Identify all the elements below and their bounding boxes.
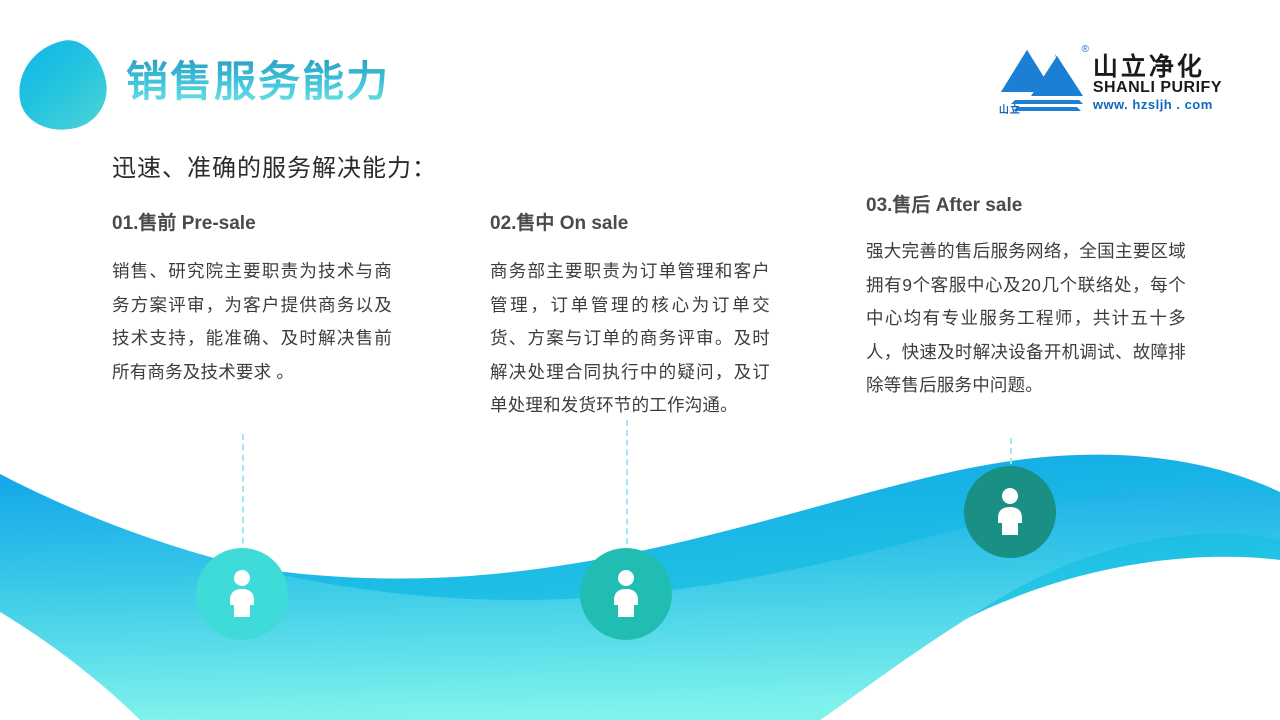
slide-root: 销售服务能力 ® 山立 山立净化 SHANLI PURIFY www. hzsl… (0, 0, 1280, 720)
column-heading: 02.售中 On sale (490, 208, 770, 235)
mountain-logo-icon: ® 山立 (997, 44, 1085, 118)
connector-line-on-sale (626, 420, 628, 554)
wave-left-cutout (0, 612, 140, 720)
section-subtitle: 迅速、准确的服务解决能力： (112, 148, 437, 183)
node-marker-on-sale[interactable] (580, 548, 672, 640)
logo-website-url: www. hzsljh . com (1093, 98, 1222, 112)
column-heading: 01.售前 Pre-sale (112, 208, 392, 235)
logo-mark-label: 山立 (999, 101, 1021, 116)
content-column-on-sale: 02.售中 On sale 商务部主要职责为订单管理和客户管理，订单管理的核心为… (490, 208, 770, 423)
decorative-blob-shape (10, 34, 114, 138)
registered-trademark-icon: ® (1081, 44, 1088, 55)
connector-line-pre-sale (242, 434, 244, 554)
content-column-after-sale: 03.售后 After sale 强大完善的售后服务网络，全国主要区域拥有9个客… (866, 190, 1186, 403)
person-icon (225, 569, 259, 619)
column-body-text: 商务部主要职责为订单管理和客户管理，订单管理的核心为订单交货、方案与订单的商务评… (490, 255, 770, 423)
column-body-text: 销售、研究院主要职责为技术与商务方案评审，为客户提供商务以及技术支持，能准确、及… (112, 255, 392, 389)
person-icon (993, 487, 1027, 537)
person-icon (609, 569, 643, 619)
logo-name-en: SHANLI PURIFY (1093, 80, 1222, 97)
logo-name-cn: 山立净化 (1093, 54, 1222, 80)
node-marker-pre-sale[interactable] (196, 548, 288, 640)
wave-right-cutout (800, 557, 1280, 720)
column-heading: 03.售后 After sale (866, 190, 1186, 217)
node-marker-after-sale[interactable] (964, 466, 1056, 558)
column-body-text: 强大完善的售后服务网络，全国主要区域拥有9个客服中心及20几个联络处，每个中心均… (866, 235, 1186, 403)
page-title: 销售服务能力 (126, 58, 390, 106)
logo-text-block: 山立净化 SHANLI PURIFY www. hzsljh . com (1093, 44, 1222, 112)
content-column-pre-sale: 01.售前 Pre-sale 销售、研究院主要职责为技术与商务方案评审，为客户提… (112, 208, 392, 389)
company-logo: ® 山立 山立净化 SHANLI PURIFY www. hzsljh . co… (997, 44, 1222, 118)
